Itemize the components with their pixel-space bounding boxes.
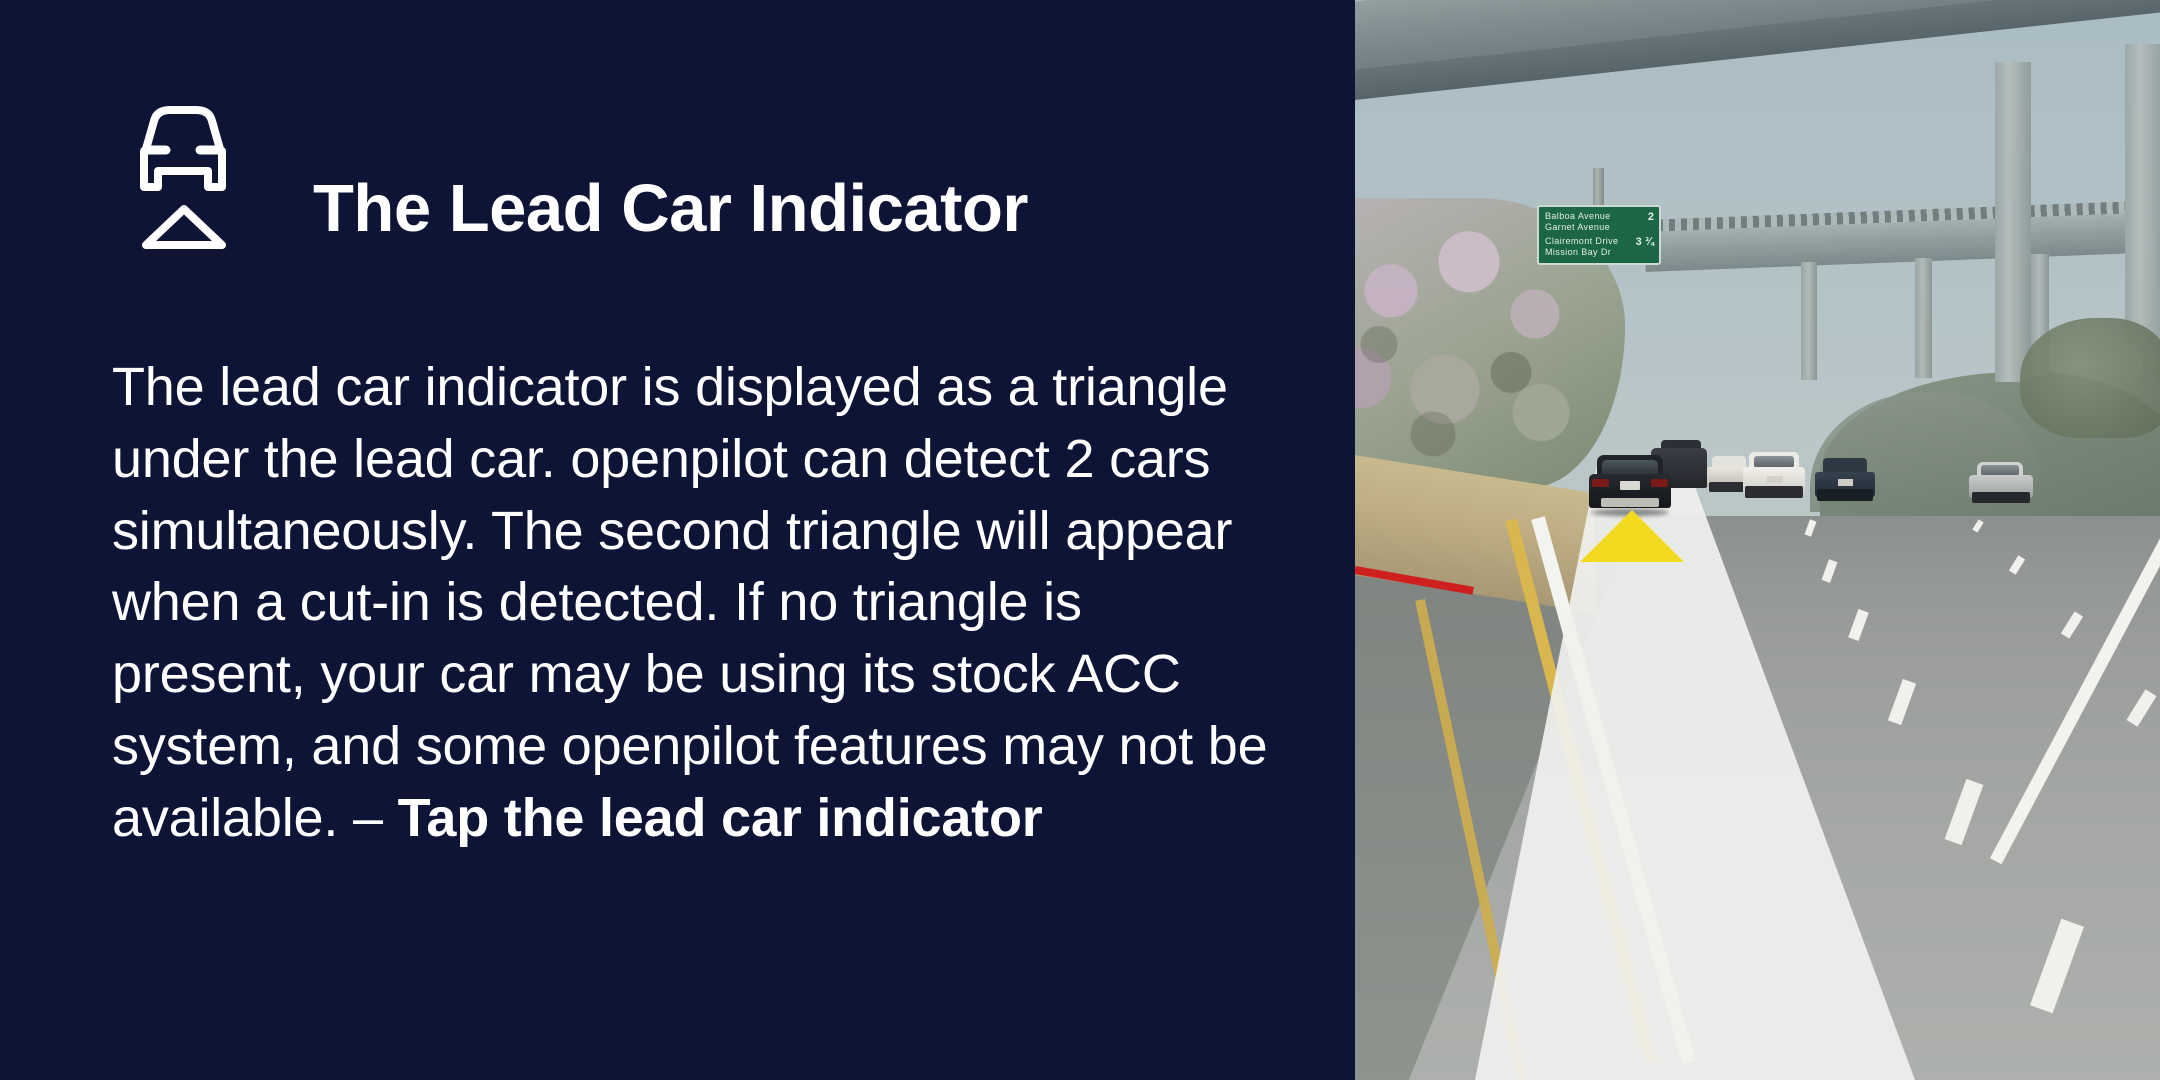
lead-car-black-suv xyxy=(1587,455,1673,517)
vehicle-underside xyxy=(1972,492,2030,503)
openpilot-path-overlay xyxy=(1355,460,2160,1080)
vehicle-taillight-left xyxy=(1592,479,1609,487)
page-title: The Lead Car Indicator xyxy=(313,174,1028,244)
vehicle-license-plate xyxy=(1838,479,1853,486)
description-action: Tap the lead car indicator xyxy=(398,788,1043,848)
white-suv xyxy=(1743,452,1805,504)
lead-car-indicator-triangle[interactable] xyxy=(1580,510,1684,562)
vehicle-taillight-right xyxy=(1651,479,1668,487)
vehicle-rear-window xyxy=(1602,460,1658,475)
onboarding-card: The Lead Car Indicator The lead car indi… xyxy=(0,0,2160,1080)
sign-distance: 3 ¾ xyxy=(1632,236,1654,249)
lead-car-with-triangle-icon xyxy=(124,105,256,255)
vehicle-license-plate xyxy=(1767,476,1783,483)
sign-destination: Mission Bay Dr xyxy=(1545,247,1618,258)
lower-overpass-pillar xyxy=(1801,262,1817,380)
vehicle-underside xyxy=(1745,486,1803,498)
highway-exit-sign: Balboa Avenue Garnet Avenue 2 Clairemont… xyxy=(1537,205,1661,265)
silver-sedan xyxy=(1969,462,2033,508)
overpass-pillar xyxy=(2125,44,2160,344)
description-text: The lead car indicator is displayed as a… xyxy=(112,352,1277,855)
car-front-icon xyxy=(124,105,242,197)
roadside-bush xyxy=(2020,318,2160,438)
sign-destination: Clairemont Drive xyxy=(1545,236,1618,247)
sign-distance: 2 xyxy=(1644,211,1654,224)
lower-overpass-pillar xyxy=(1915,258,1932,378)
blue-pickup-truck xyxy=(1815,458,1875,506)
dashcam-photo: Balboa Avenue Garnet Avenue 2 Clairemont… xyxy=(1355,0,2160,1080)
vehicle-underside xyxy=(1817,489,1873,501)
overpass-pillar xyxy=(1995,62,2031,382)
sign-destination: Balboa Avenue xyxy=(1545,211,1611,222)
info-panel: The Lead Car Indicator The lead car indi… xyxy=(0,0,1355,1080)
vehicle-license-plate xyxy=(1620,481,1640,490)
lead-indicator-triangle-icon xyxy=(138,203,230,251)
sign-destination: Garnet Avenue xyxy=(1545,222,1611,233)
vehicle-bumper xyxy=(1601,498,1659,507)
description-lead: The lead car indicator is displayed as a… xyxy=(112,357,1267,848)
